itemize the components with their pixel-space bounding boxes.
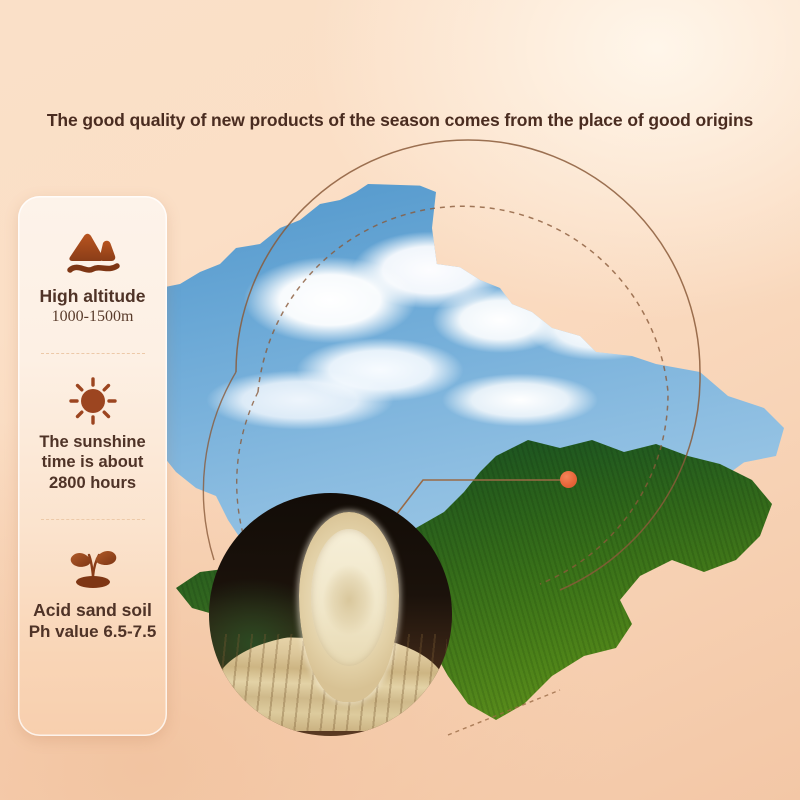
feature-sunshine-time: The sunshine time is about 2800 hours xyxy=(18,376,167,492)
sprout-icon xyxy=(62,544,124,594)
origin-location-marker[interactable] xyxy=(560,471,577,488)
origin-features-card: High altitude 1000-1500m Th xyxy=(18,196,167,736)
page-title: The good quality of new products of the … xyxy=(0,110,800,131)
sliced-root-product-photo[interactable] xyxy=(209,493,452,736)
feature-high-altitude-value: 1000-1500m xyxy=(52,307,134,327)
feature-acid-sand-soil: Acid sand soil Ph value 6.5-7.5 xyxy=(18,544,167,643)
card-divider-2 xyxy=(41,519,145,520)
feature-acid-sand-soil-value: Ph value 6.5-7.5 xyxy=(29,621,157,642)
mountain-icon xyxy=(62,230,124,280)
root-cross-section xyxy=(299,512,399,702)
feature-acid-sand-soil-title: Acid sand soil xyxy=(33,600,152,621)
feature-sunshine-time-title: The sunshine time is about 2800 hours xyxy=(23,432,163,492)
feature-high-altitude-title: High altitude xyxy=(40,286,146,307)
root-cross-section-core xyxy=(311,529,387,665)
card-divider-1 xyxy=(41,353,145,354)
sun-icon xyxy=(62,376,124,426)
feature-high-altitude: High altitude 1000-1500m xyxy=(18,230,167,327)
poster-root: The good quality of new products of the … xyxy=(0,0,800,800)
